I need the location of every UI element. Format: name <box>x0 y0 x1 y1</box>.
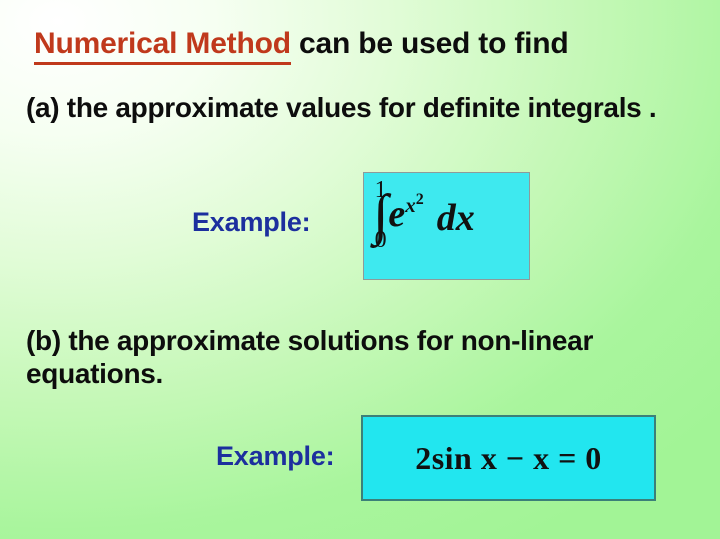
slide-title: Numerical Method can be used to find <box>34 29 569 59</box>
integral-lower-limit: 0 <box>373 228 388 252</box>
title-remainder: can be used to find <box>291 27 569 60</box>
integrand-base: e <box>388 192 405 236</box>
exponent-power: 2 <box>416 191 424 208</box>
integrand-exponent: x <box>405 193 416 217</box>
integral-sign-with-limits: 1 ∫ 0 <box>373 178 388 252</box>
slide-canvas: Numerical Method can be used to find (a)… <box>0 0 720 539</box>
formula-box-integral: 1 ∫ 0 ex2dx <box>363 172 530 280</box>
integral-expression: 1 ∫ 0 ex2dx <box>373 177 475 251</box>
nonlinear-equation: 2sin x − x = 0 <box>415 440 602 477</box>
example-label-b: Example: <box>216 443 334 470</box>
formula-box-equation: 2sin x − x = 0 <box>361 415 656 501</box>
differential-dx: dx <box>437 196 475 240</box>
example-label-a: Example: <box>192 209 310 236</box>
bullet-point-b: (b) the approximate solutions for non-li… <box>26 325 702 391</box>
bullet-point-a: (a) the approximate values for definite … <box>26 92 702 125</box>
title-highlight-term: Numerical Method <box>34 27 291 65</box>
integrand-exponent-group: x2 <box>405 193 424 217</box>
